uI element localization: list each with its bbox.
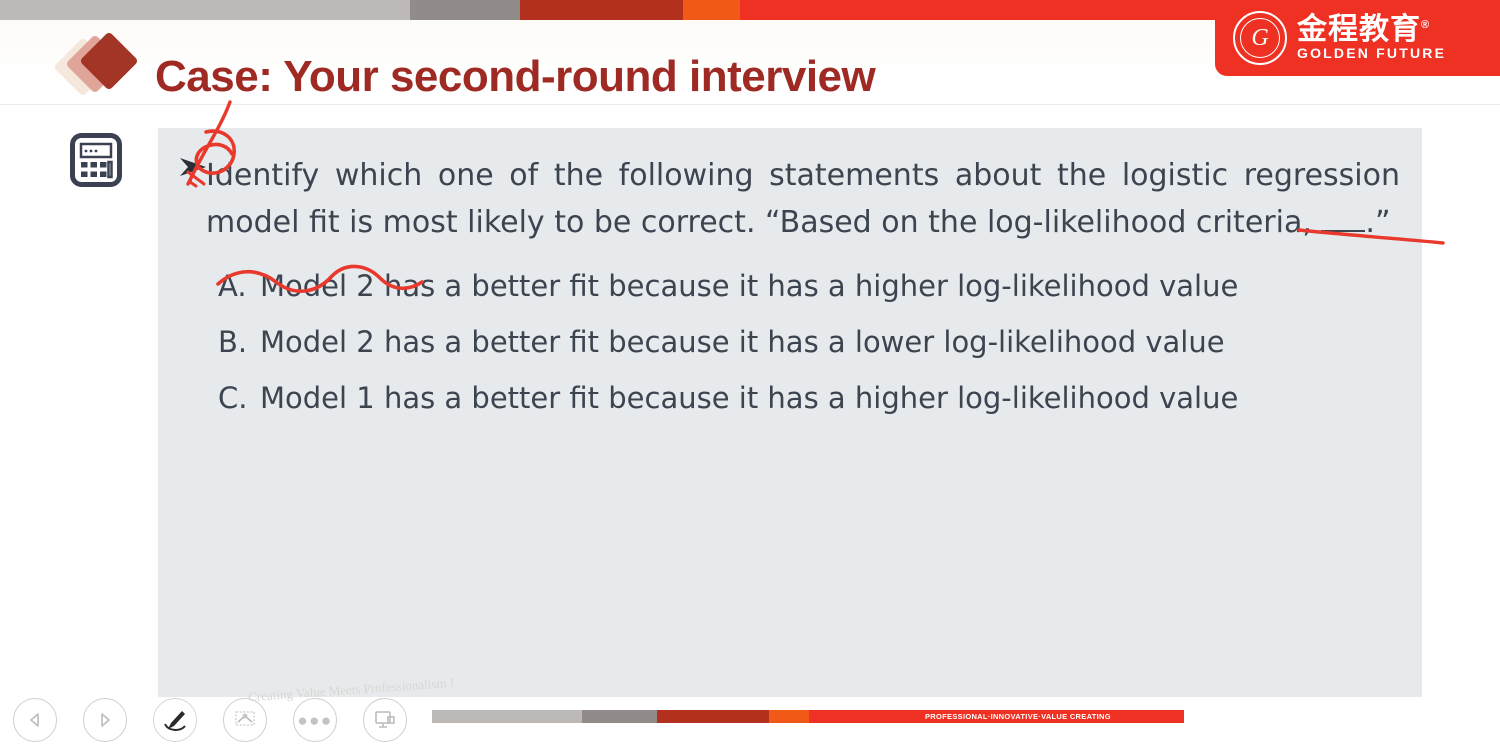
- presenter-view-button[interactable]: [363, 698, 407, 742]
- answer-option-a[interactable]: A.Model 2 has a better fit because it ha…: [206, 269, 1404, 303]
- footer-bar-segment-2: [657, 710, 769, 723]
- answer-option-c[interactable]: C.Model 1 has a better fit because it ha…: [206, 381, 1404, 415]
- option-letter: A.: [218, 269, 260, 303]
- answer-blank: [1321, 230, 1365, 232]
- footer-bar-segment-0: [432, 710, 582, 723]
- seal-glyph: G: [1251, 26, 1268, 50]
- strip-segment-2: [520, 0, 683, 20]
- page-title: Case: Your second-round interview: [155, 52, 875, 102]
- next-slide-button[interactable]: [83, 698, 127, 742]
- question-tail: .”: [1365, 205, 1390, 240]
- brand-name-cn-text: 金程教育: [1297, 13, 1421, 46]
- brand-seal-icon: G: [1233, 11, 1287, 65]
- option-text: Model 2 has a better fit because it has …: [260, 325, 1225, 359]
- ellipsis-icon: ●●●: [297, 712, 332, 729]
- strip-segment-3: [683, 0, 740, 20]
- brand-name-en: GOLDEN FUTURE: [1297, 45, 1446, 62]
- presentation-slide: Case: Your second-round interview G 金程教育…: [0, 0, 1500, 750]
- option-text: Model 1 has a better fit because it has …: [260, 381, 1238, 415]
- calculator-icon: [70, 133, 122, 187]
- diamond-marker-icon: [62, 34, 140, 96]
- footer-color-bar: PROFESSIONAL·INNOVATIVE·VALUE CREATING: [432, 710, 1184, 723]
- more-options-button[interactable]: ●●●: [293, 698, 337, 742]
- brand-name-cn: 金程教育®: [1297, 14, 1446, 46]
- option-text: Model 2 has a better fit because it has …: [260, 269, 1238, 303]
- footer-bar-segment-1: [582, 710, 657, 723]
- option-letter: C.: [218, 381, 260, 415]
- option-letter: B.: [218, 325, 260, 359]
- previous-slide-button[interactable]: [13, 698, 57, 742]
- strip-segment-1: [410, 0, 520, 20]
- answer-options: A.Model 2 has a better fit because it ha…: [206, 269, 1404, 415]
- brand-logo: G 金程教育® GOLDEN FUTURE: [1215, 0, 1500, 76]
- footer-bar-segment-3: [769, 710, 809, 723]
- arrow-bullet-icon: [176, 152, 218, 182]
- laser-pointer-button[interactable]: [223, 698, 267, 742]
- question-text: Identify which one of the following stat…: [206, 152, 1404, 247]
- question-panel: Identify which one of the following stat…: [158, 128, 1422, 697]
- registered-mark: ®: [1421, 19, 1430, 31]
- question-body: Identify which one of the following stat…: [206, 158, 1400, 240]
- annotate-pen-button[interactable]: [153, 698, 197, 742]
- answer-option-b[interactable]: B.Model 2 has a better fit because it ha…: [206, 325, 1404, 359]
- strip-segment-0: [0, 0, 410, 20]
- brand-tagline: PROFESSIONAL·INNOVATIVE·VALUE CREATING: [925, 712, 1099, 721]
